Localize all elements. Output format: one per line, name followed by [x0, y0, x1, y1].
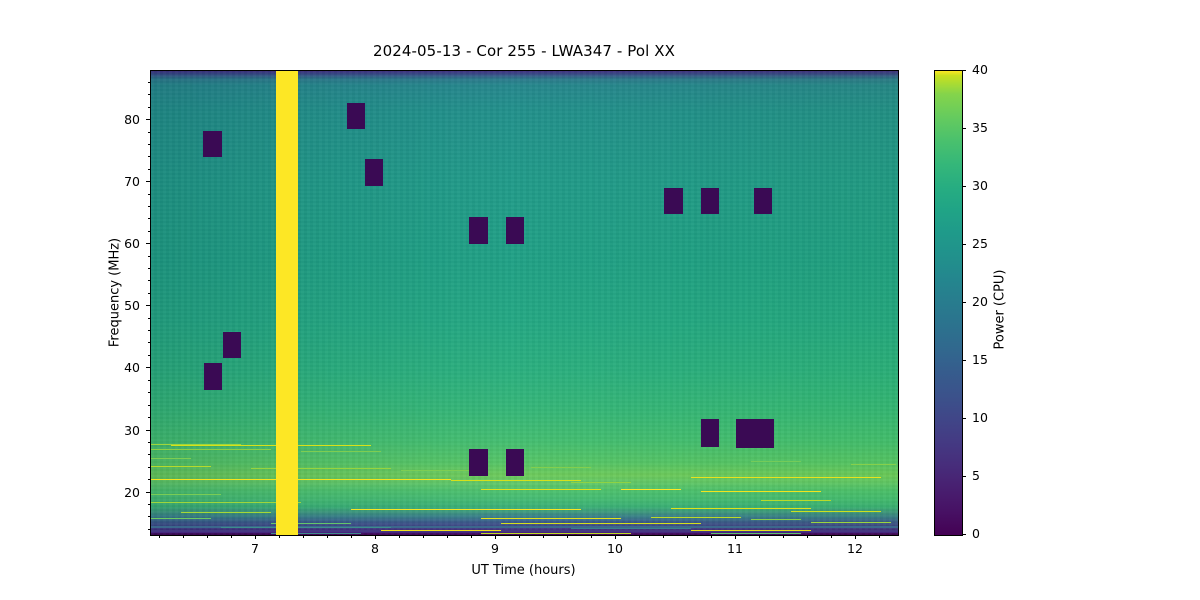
spectrogram-image [151, 71, 898, 535]
chart-title: 2024-05-13 - Cor 255 - LWA347 - Pol XX [0, 42, 1048, 60]
y-axis-title: Frequency (MHz) [108, 173, 123, 413]
colorbar-tick-label: 15 [972, 352, 988, 367]
x-tick-label: 10 [595, 541, 635, 556]
colorbar-tick-label: 5 [972, 468, 980, 483]
flagged-blocks-layer [151, 71, 898, 535]
flagged-block [203, 131, 222, 157]
colorbar-tick-label: 35 [972, 120, 988, 135]
x-tick-label: 7 [235, 541, 275, 556]
x-axis-title: UT Time (hours) [150, 563, 897, 578]
flagged-block [664, 188, 683, 214]
flagged-block [506, 449, 524, 476]
y-tick-label: 20 [110, 485, 140, 500]
y-tick-label: 80 [110, 112, 140, 127]
colorbar-tick-label: 25 [972, 236, 988, 251]
y-tick-label: 30 [110, 423, 140, 438]
x-tick-label: 9 [475, 541, 515, 556]
flagged-block [701, 419, 719, 447]
colorbar-tick-label: 10 [972, 410, 988, 425]
flagged-block [469, 449, 488, 476]
x-tick-label: 11 [715, 541, 755, 556]
flagged-block [365, 159, 383, 186]
flagged-block [754, 188, 772, 214]
flagged-block [223, 332, 241, 358]
figure-canvas: 2024-05-13 - Cor 255 - LWA347 - Pol XX [0, 0, 1200, 600]
colorbar-tick-label: 30 [972, 178, 988, 193]
spectrogram-axes[interactable] [150, 70, 899, 536]
flagged-block [469, 217, 488, 244]
x-tick-label: 8 [355, 541, 395, 556]
x-tick-label: 12 [835, 541, 875, 556]
flagged-block [204, 363, 222, 390]
flagged-block [506, 217, 524, 244]
colorbar-title: Power (CPU) [993, 190, 1008, 430]
flagged-block [347, 103, 365, 129]
flagged-block [701, 188, 719, 214]
colorbar-tick-label: 0 [972, 526, 980, 541]
colorbar-tick-label: 40 [972, 62, 988, 77]
colorbar-tick-label: 20 [972, 294, 988, 309]
flagged-block [736, 419, 774, 448]
colorbar-gradient [934, 70, 963, 536]
